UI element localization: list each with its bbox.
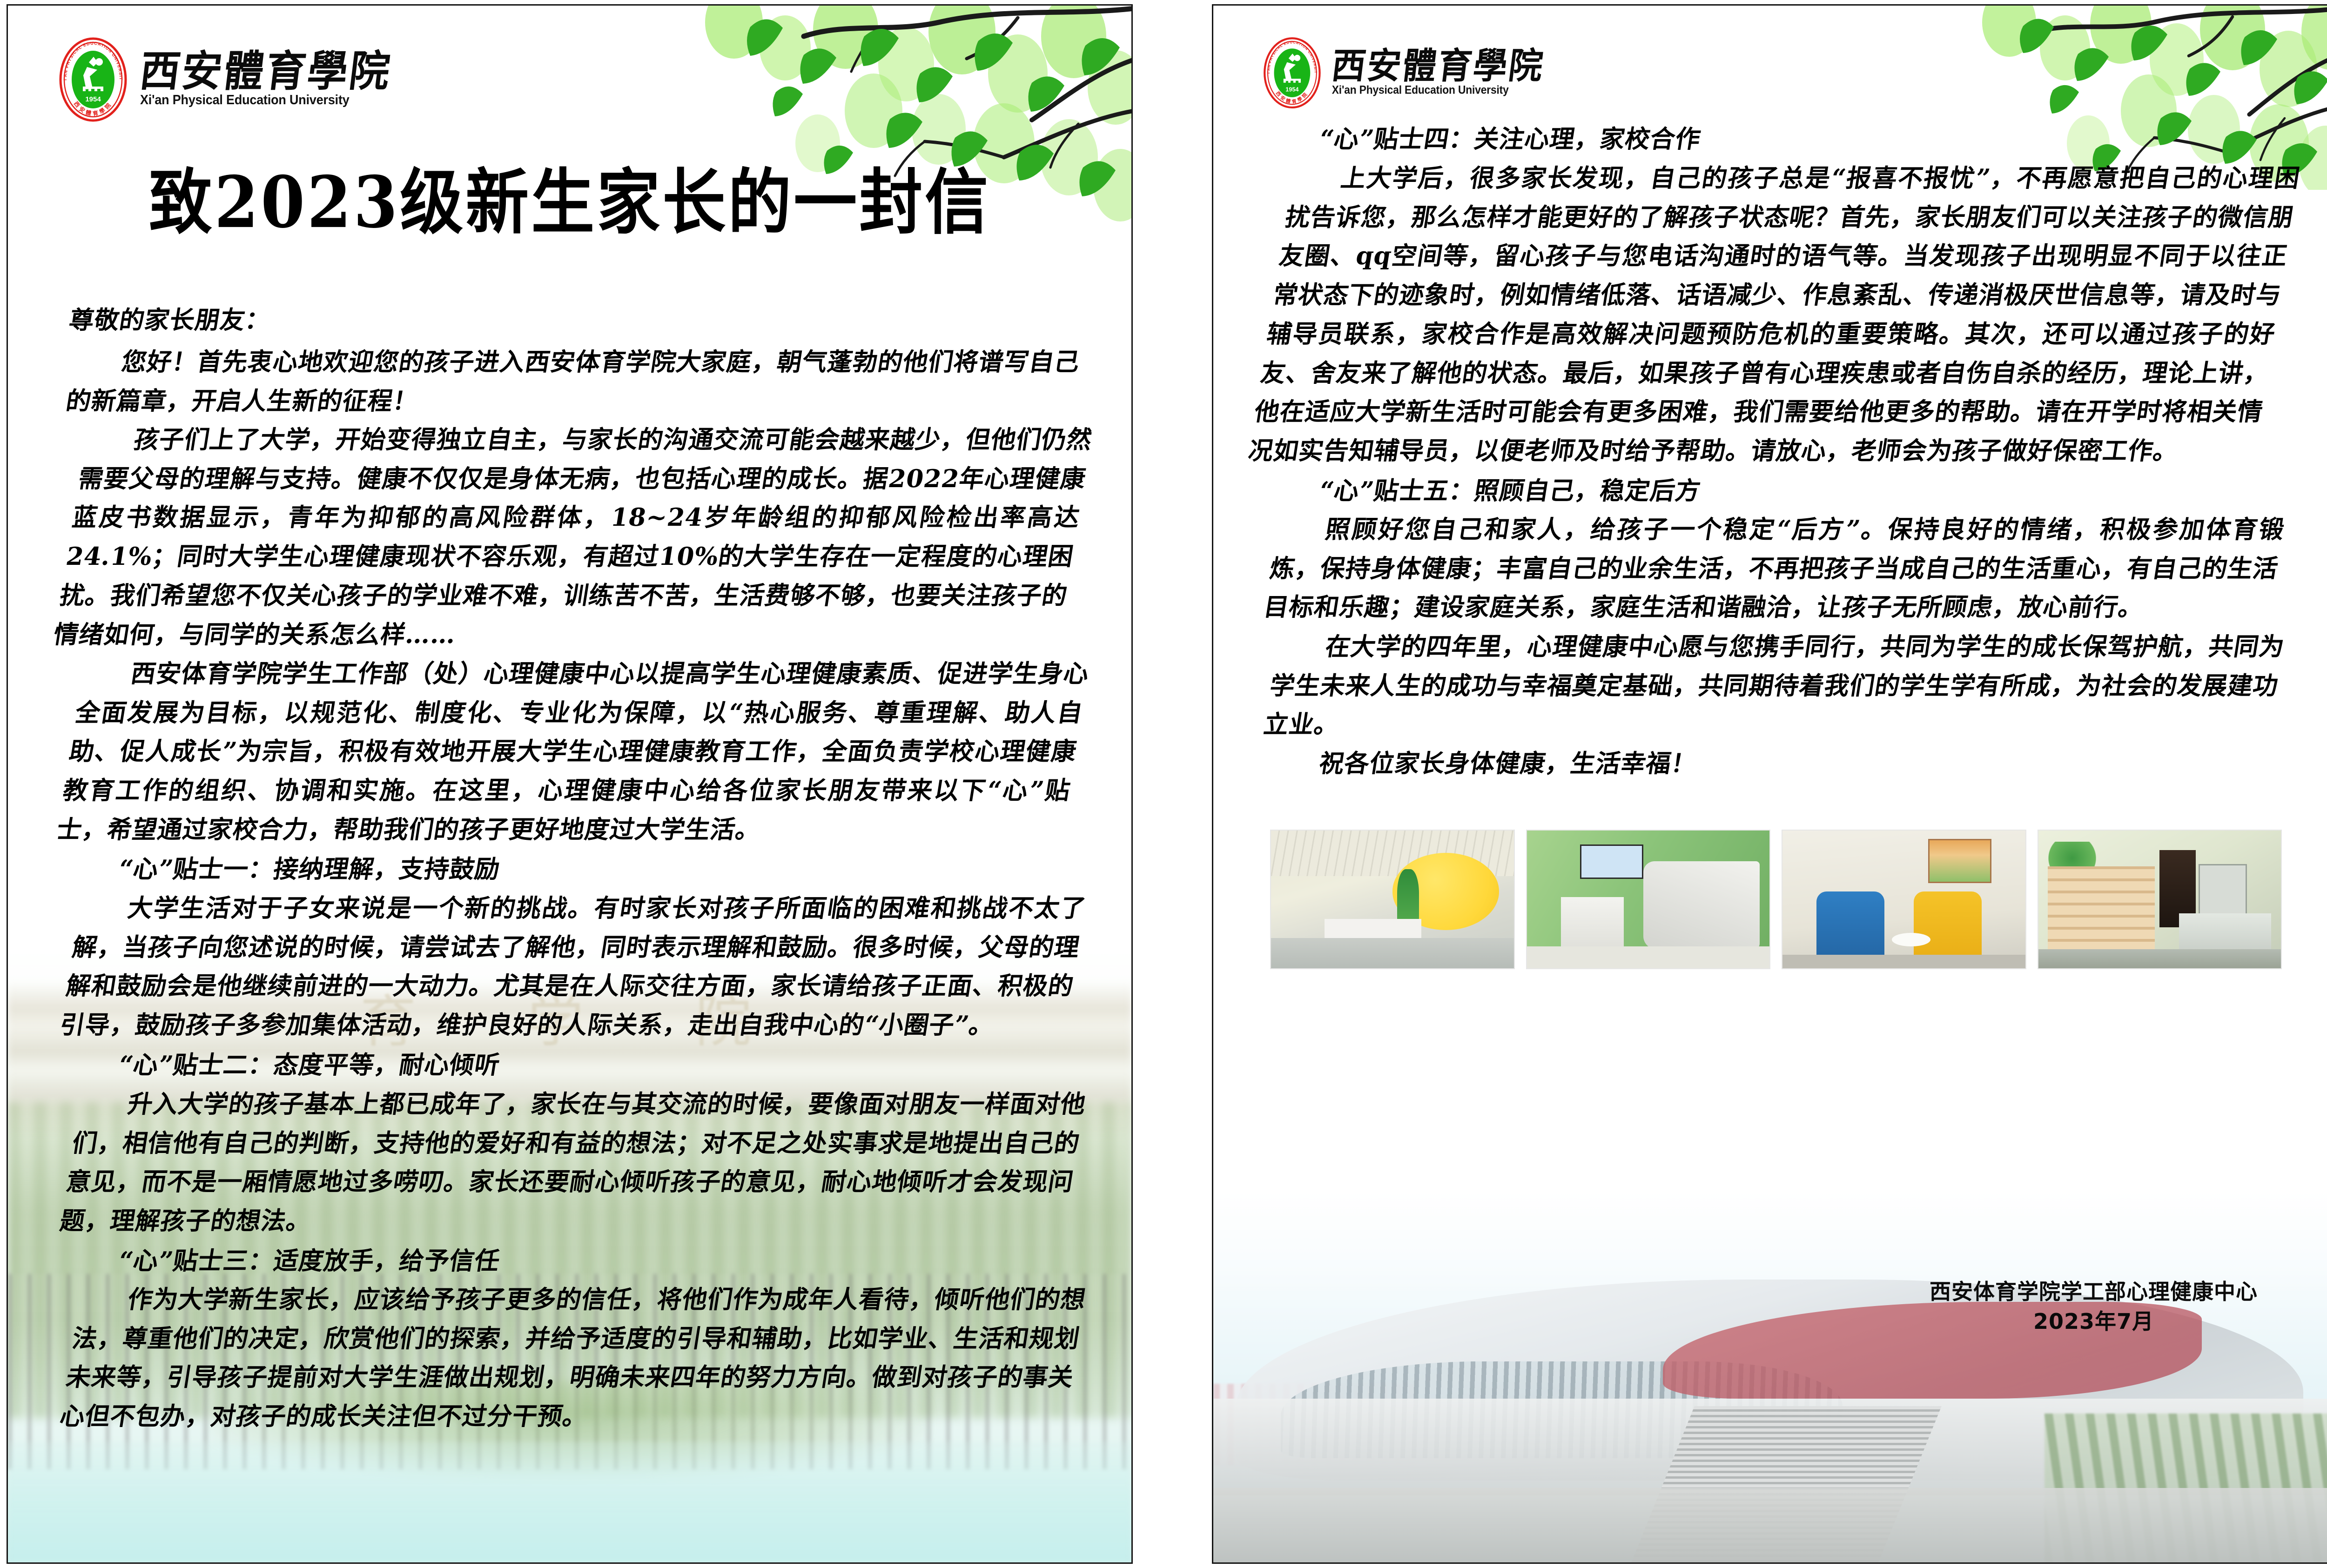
tip-5-heading: “心”贴士五：照顾自己，稳定后方 — [1267, 472, 2281, 511]
tip-2-heading: “心”贴士二：态度平等，耐心倾听 — [66, 1046, 1079, 1085]
letter-page-2: 1954 XI'AN PHYSICAL EDUCATION UNIVERSITY… — [1212, 4, 2327, 1564]
two-page-spread: 育 学 院 — [0, 0, 2327, 1568]
letterhead: 1954 XI'AN PHYSICAL EDUCATION UNIVERSITY… — [1263, 36, 1544, 109]
closing-paragraph: 在大学的四年里，心理健康中心愿与您携手同行，共同为学生的成长保驾护航，共同为学生… — [1261, 628, 2287, 744]
university-name-cn: 西安體育學院 — [1330, 48, 1547, 84]
tip-4-heading: “心”贴士四：关注心理，家校合作 — [1267, 120, 2281, 159]
letter-body-page-1: 尊敬的家长朋友： 您好！首先衷心地欢迎您的孩子进入西安体育学院大家庭，朝气蓬勃的… — [8, 301, 1131, 1436]
paragraph-health: 孩子们上了大学，开始变得独立自主，与家长的沟通交流可能会越来越少，但他们仍然需要… — [51, 421, 1095, 654]
facility-photo-strip — [1270, 830, 2282, 969]
page-title: 致2023级新生家长的一封信 — [8, 145, 1131, 248]
signature-organization: 西安体育学院学工部心理健康中心 — [1930, 1277, 2258, 1307]
university-name-cn: 西安體育學院 — [137, 50, 394, 93]
signature-block: 西安体育学院学工部心理健康中心 2023年7月 — [1930, 1277, 2258, 1336]
university-name-en: Xi'an Physical Education University — [1332, 84, 1529, 97]
photo-counseling-lounge-chairs — [1782, 830, 2026, 969]
tip-3-heading: “心”贴士三：适度放手，给予信任 — [66, 1242, 1079, 1281]
university-crest-icon: 1954 XI'AN PHYSICAL EDUCATION UNIVERSITY… — [58, 36, 128, 123]
photo-relaxation-equipment-room — [1526, 830, 1771, 969]
svg-text:1954: 1954 — [85, 95, 101, 103]
tip-3-body: 作为大学新生家长，应该给予孩子更多的信任，将他们作为成年人看待，倾听他们的想法，… — [57, 1280, 1089, 1436]
letterhead: 1954 XI'AN PHYSICAL EDUCATION UNIVERSITY… — [58, 36, 391, 123]
well-wishes: 祝各位家长身体健康，生活幸福！ — [1267, 744, 2281, 784]
tip-4-body: 上大学后，很多家长发现，自己的孩子总是“报喜不报忧”，不再愿意把自己的心理困扰告… — [1245, 159, 2303, 471]
photo-sandtray-library-room — [2038, 830, 2282, 969]
tip-1-heading: “心”贴士一：接纳理解，支持鼓励 — [66, 850, 1079, 889]
university-crest-icon: 1954 XI'AN PHYSICAL EDUCATION UNIVERSITY… — [1263, 36, 1322, 109]
stadium-photo — [1213, 1190, 2327, 1562]
paragraph-center: 西安体育学院学生工作部（处）心理健康中心以提高学生心理健康素质、促进学生身心全面… — [54, 655, 1092, 850]
paragraph-intro: 您好！首先衷心地欢迎您的孩子进入西安体育学院大家庭，朝气蓬勃的他们将谱写自己的新… — [63, 343, 1083, 421]
salutation: 尊敬的家长朋友： — [66, 301, 1079, 340]
letter-page-1: 育 学 院 — [7, 4, 1133, 1564]
signature-date: 2023年7月 — [1930, 1307, 2258, 1336]
tip-1-body: 大学生活对于子女来说是一个新的挑战。有时家长对孩子所面临的困难和挑战不太了解，当… — [57, 889, 1089, 1045]
tip-2-body: 升入大学的孩子基本上都已成年了，家长在与其交流的时候，要像面对朋友一样面对他们，… — [57, 1085, 1089, 1241]
svg-text:1954: 1954 — [1285, 86, 1298, 93]
letter-body-page-2: “心”贴士四：关注心理，家校合作 上大学后，很多家长发现，自己的孩子总是“报喜不… — [1213, 120, 2327, 783]
photo-reception-corridor — [1270, 830, 1515, 969]
tip-5-body: 照顾好您自己和家人，给孩子一个稳定“后方”。保持良好的情绪，积极参加体育锻炼，保… — [1261, 510, 2287, 627]
university-name-en: Xi'an Physical Education University — [140, 93, 374, 108]
